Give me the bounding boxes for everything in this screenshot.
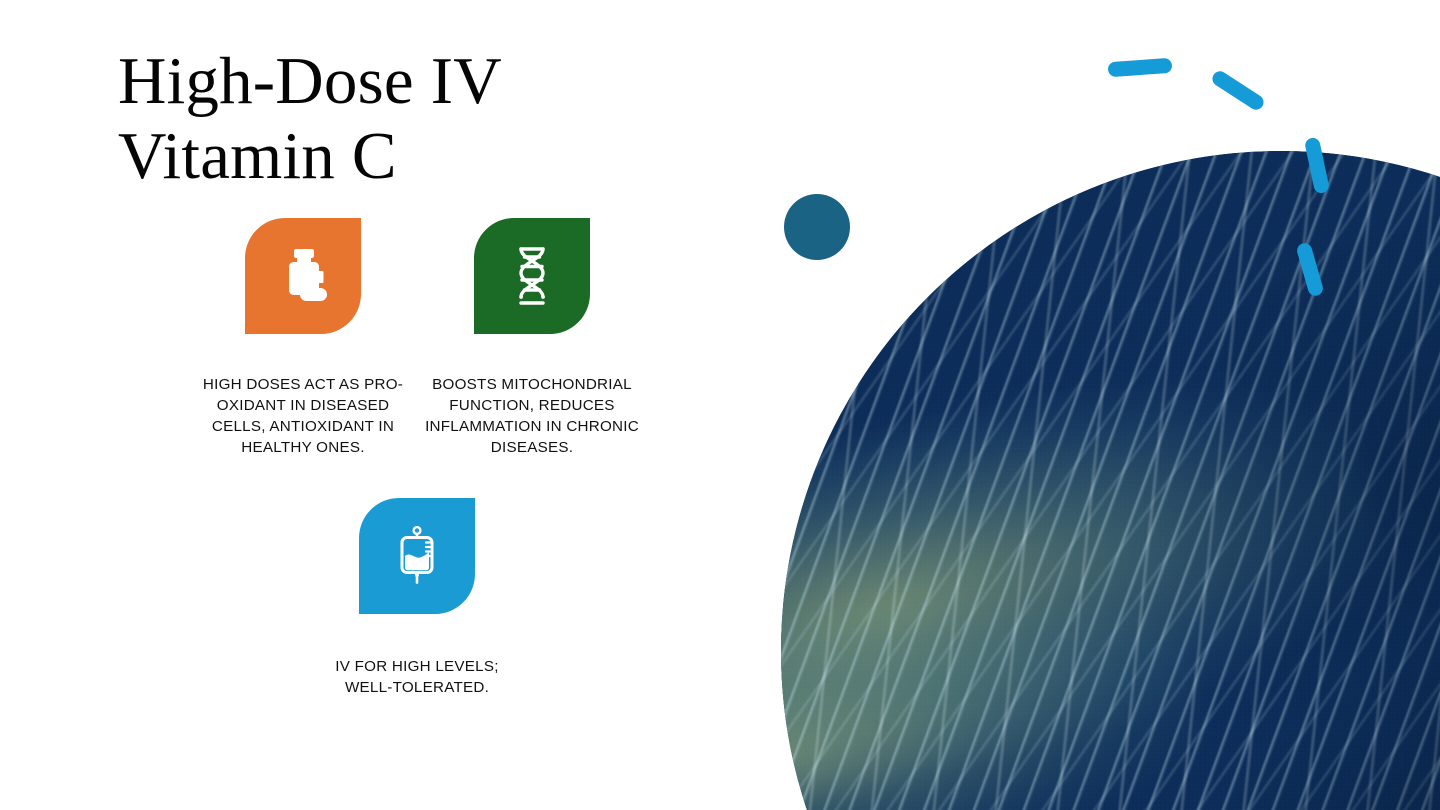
blue-fiber-wave-photo (781, 151, 1440, 810)
photo-shadow-veil (781, 151, 1440, 810)
slide-canvas: High-Dose IV Vitamin C (0, 0, 1440, 810)
teal-dot (784, 194, 850, 260)
photo-base-gradient (781, 151, 1440, 810)
feature-item: IV FOR HIGH LEVELS; WELL-TOLERATED. (302, 498, 532, 698)
feature-item: BOOSTS MITOCHONDRIAL FUNCTION, REDUCES I… (417, 218, 647, 459)
photo-fiber-strands-primary (781, 151, 1440, 810)
feature-caption: BOOSTS MITOCHONDRIAL FUNCTION, REDUCES I… (425, 374, 640, 459)
blue-dash-accent-3 (1304, 137, 1330, 195)
photo-fiber-strands-highlight (781, 151, 1440, 810)
blue-dash-accent-2 (1210, 68, 1267, 112)
photo-warm-band-secondary (781, 556, 1219, 810)
feature-item: HIGH DOSES ACT AS PRO-OXIDANT IN DISEASE… (188, 218, 418, 459)
photo-warm-band (781, 322, 1411, 810)
feature-icon-tile (474, 218, 590, 334)
blue-dash-accent-4 (1295, 241, 1324, 297)
feature-caption: HIGH DOSES ACT AS PRO-OXIDANT IN DISEASE… (196, 374, 411, 459)
feature-caption: IV FOR HIGH LEVELS; WELL-TOLERATED. (310, 656, 525, 698)
slide-content: High-Dose IV Vitamin C (0, 0, 760, 810)
photo-fiber-strands-secondary (781, 151, 1440, 810)
iv-drip-bag-icon (393, 526, 441, 586)
feature-icon-tile (359, 498, 475, 614)
blue-dash-accent-1 (1108, 58, 1173, 77)
dna-helix-icon (512, 246, 552, 306)
page-title: High-Dose IV Vitamin C (118, 44, 678, 194)
photo-grain-texture (781, 151, 1440, 810)
feature-icon-tile (245, 218, 361, 334)
pill-bottle-icon (277, 248, 329, 304)
